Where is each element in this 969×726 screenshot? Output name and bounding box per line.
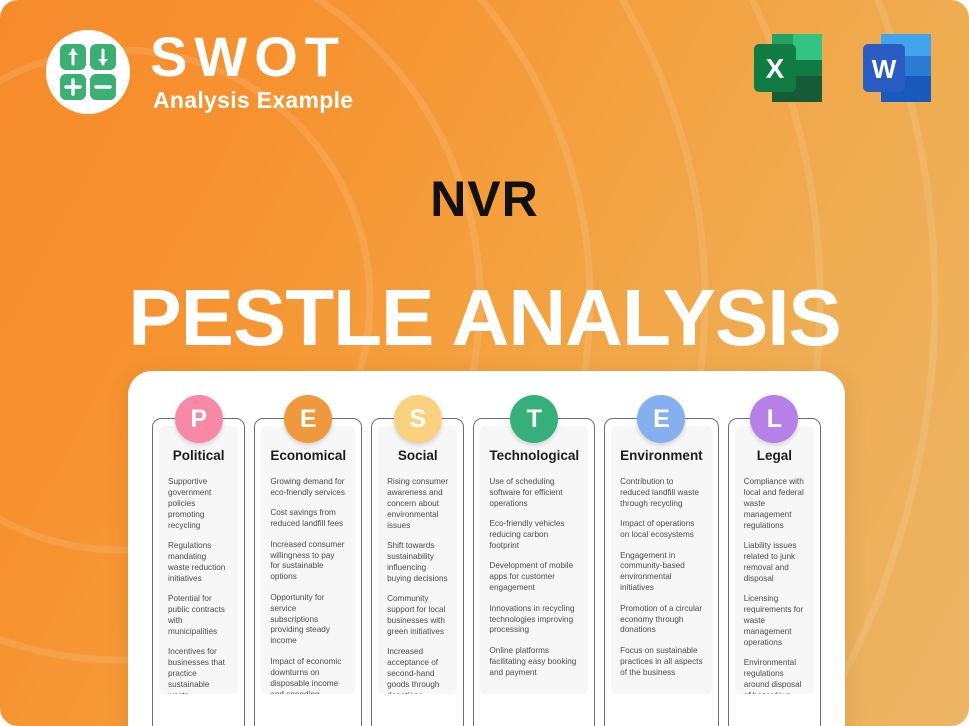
excel-icon[interactable]: X xyxy=(746,26,830,110)
badge-social: S xyxy=(394,395,442,443)
pestle-columns: P Political Supportive government polici… xyxy=(152,418,821,726)
badge-environment: E xyxy=(637,395,685,443)
list-item: Online platforms facilitating easy booki… xyxy=(489,646,579,679)
list-item: Impact of operations on local ecosystems xyxy=(620,519,703,541)
svg-text:X: X xyxy=(766,53,785,84)
list-item: Promotion of a circular economy through … xyxy=(620,604,703,637)
brand-block: SWOT Analysis Example xyxy=(46,30,353,114)
list-item: Licensing requirements for waste managem… xyxy=(744,594,805,649)
panel-economical: Economical Growing demand for eco-friend… xyxy=(261,426,355,694)
panel-social: Social Rising consumer awareness and con… xyxy=(378,426,457,694)
svg-text:W: W xyxy=(872,54,897,84)
pestle-column-environment[interactable]: E Environment Contribution to reduced la… xyxy=(604,418,719,726)
panel-technological: Technological Use of scheduling software… xyxy=(480,426,588,694)
badge-economical: E xyxy=(284,395,332,443)
badge-technological: T xyxy=(510,395,558,443)
column-title-legal: Legal xyxy=(744,448,805,463)
plus-icon xyxy=(60,74,86,100)
list-item: Opportunity for service subscriptions pr… xyxy=(270,593,346,648)
list-item: Regulations mandating waste reduction in… xyxy=(168,541,229,585)
pestle-column-political[interactable]: P Political Supportive government polici… xyxy=(152,418,245,726)
list-item: Use of scheduling software for efficient… xyxy=(489,477,579,510)
list-item: Cost savings from reduced landfill fees xyxy=(270,508,346,530)
brand-subtitle: Analysis Example xyxy=(153,87,353,114)
column-title-environment: Environment xyxy=(620,448,703,463)
company-name: NVR xyxy=(0,170,969,228)
list-item: Rising consumer awareness and concern ab… xyxy=(387,477,448,532)
pestle-column-social[interactable]: S Social Rising consumer awareness and c… xyxy=(371,418,464,726)
list-item: Growing demand for eco-friendly services xyxy=(270,477,346,499)
arrow-up-icon xyxy=(60,44,86,70)
brand-title: SWOT xyxy=(150,30,353,85)
column-title-technological: Technological xyxy=(489,448,579,463)
list-item: Community support for local businesses w… xyxy=(387,594,448,638)
list-item: Shift towards sustainability influencing… xyxy=(387,541,448,585)
poster-canvas: SWOT Analysis Example X W xyxy=(0,0,969,726)
list-item: Focus on sustainable practices in all as… xyxy=(620,646,703,679)
list-item: Compliance with local and federal waste … xyxy=(744,477,805,532)
pestle-board: P Political Supportive government polici… xyxy=(128,371,845,726)
list-item: Potential for public contracts with muni… xyxy=(168,594,229,638)
badge-legal: L xyxy=(750,395,798,443)
list-item: Liability issues related to junk removal… xyxy=(744,541,805,585)
pestle-column-technological[interactable]: T Technological Use of scheduling softwa… xyxy=(473,418,595,726)
list-item: Environmental regulations around disposa… xyxy=(744,658,805,694)
pestle-column-economical[interactable]: E Economical Growing demand for eco-frie… xyxy=(254,418,362,726)
badge-political: P xyxy=(175,395,223,443)
list-item: Contribution to reduced landfill waste t… xyxy=(620,477,703,510)
arrow-down-icon xyxy=(90,44,116,70)
column-title-social: Social xyxy=(387,448,448,463)
list-item: Engagement in community-based environmen… xyxy=(620,551,703,595)
office-icons-group: X W xyxy=(746,26,939,110)
panel-legal: Legal Compliance with local and federal … xyxy=(735,426,814,694)
list-item: Supportive government policies promoting… xyxy=(168,477,229,532)
column-title-political: Political xyxy=(168,448,229,463)
list-item: Incentives for businesses that practice … xyxy=(168,647,229,694)
list-item: Development of mobile apps for customer … xyxy=(489,561,579,594)
page-title: PESTLE ANALYSIS xyxy=(0,272,969,364)
panel-environment: Environment Contribution to reduced land… xyxy=(611,426,712,694)
list-item: Impact of economic downturns on disposab… xyxy=(270,657,346,694)
swot-quadrant-icon xyxy=(46,30,130,114)
list-item: Increased acceptance of second-hand good… xyxy=(387,647,448,694)
panel-political: Political Supportive government policies… xyxy=(159,426,238,694)
list-item: Eco-friendly vehicles reducing carbon fo… xyxy=(489,519,579,552)
list-item: Increased consumer willingness to pay fo… xyxy=(270,540,346,584)
pestle-column-legal[interactable]: L Legal Compliance with local and federa… xyxy=(728,418,821,726)
column-title-economical: Economical xyxy=(270,448,346,463)
minus-icon xyxy=(90,74,116,100)
list-item: Innovations in recycling technologies im… xyxy=(489,604,579,637)
word-icon[interactable]: W xyxy=(855,26,939,110)
